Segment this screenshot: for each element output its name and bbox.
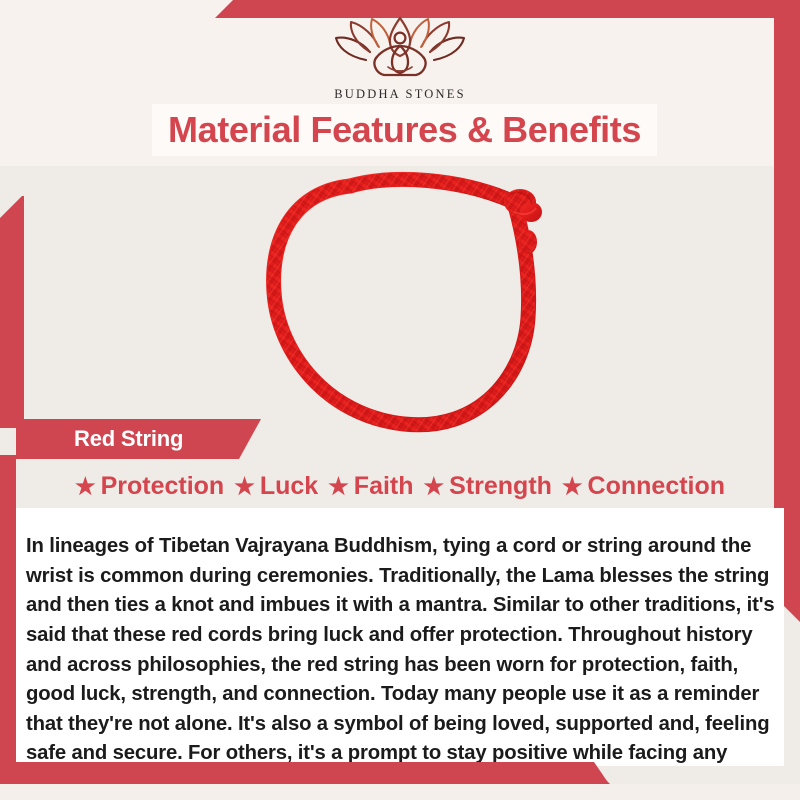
benefit-item: ★ Connection [557,472,730,501]
description-card: In lineages of Tibetan Vajrayana Buddhis… [16,508,784,766]
material-label-banner: Red String [16,419,261,459]
benefit-item: ★ Luck [229,472,323,501]
benefit-item: ★ Faith [323,472,418,501]
product-image [232,168,572,440]
benefit-label: Faith [354,472,414,501]
bottom-light-band [0,784,800,800]
star-icon: ★ [234,475,255,498]
star-icon: ★ [562,475,583,498]
star-icon: ★ [75,475,96,498]
infographic-poster: BUDDHA STONES Material Features & Benefi… [0,0,800,800]
brand-name: BUDDHA STONES [334,87,466,102]
benefit-item: ★ Strength [419,472,557,501]
benefit-label: Connection [588,472,726,501]
page-title: Material Features & Benefits [168,109,641,151]
benefit-item: ★ Protection [70,472,229,501]
star-icon: ★ [328,475,349,498]
bottom-red-accent [0,762,610,784]
material-label: Red String [74,426,183,452]
description-text: In lineages of Tibetan Vajrayana Buddhis… [26,532,776,798]
benefit-label: Protection [101,472,225,501]
benefit-label: Strength [449,472,552,501]
brand-logo: BUDDHA STONES [0,16,800,102]
lotus-meditation-icon [332,16,468,85]
left-red-strip [0,196,24,428]
title-banner: Material Features & Benefits [152,104,657,156]
benefits-row: ★ Protection ★ Luck ★ Faith ★ Strength ★… [0,466,800,506]
benefit-label: Luck [260,472,318,501]
star-icon: ★ [424,475,445,498]
